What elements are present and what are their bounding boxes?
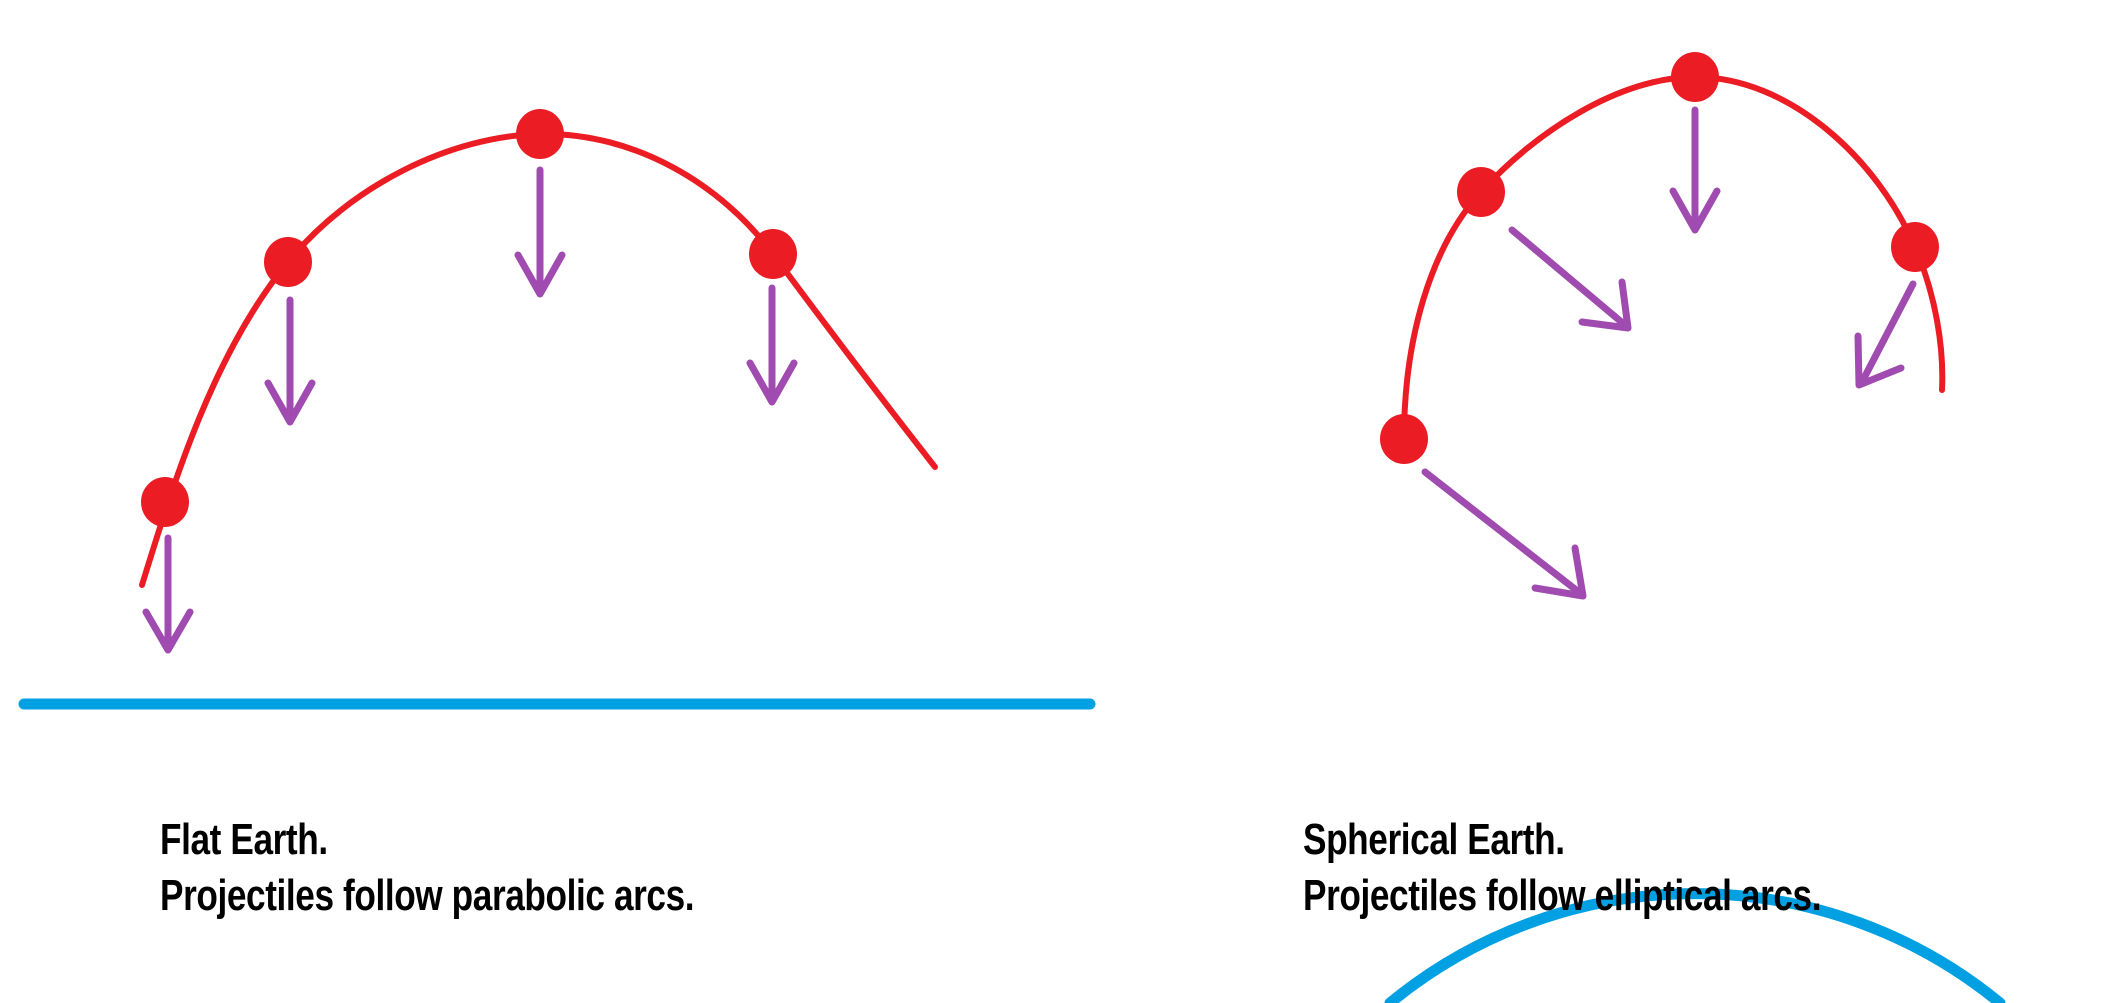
projectile-dot <box>264 237 312 287</box>
gravity-arrow-3 <box>518 170 562 294</box>
projectile-dot <box>516 109 564 159</box>
flat-earth-caption-line1: Flat Earth. <box>160 812 694 868</box>
spherical-earth-caption-line1: Spherical Earth. <box>1303 812 1821 868</box>
projectile-dot <box>1457 167 1505 217</box>
projectile-dot <box>1891 222 1939 272</box>
flat-earth-gravity-arrows <box>146 170 794 650</box>
projectile-dot <box>1671 52 1719 102</box>
diagram-canvas: Flat Earth. Projectiles follow parabolic… <box>0 0 2118 1003</box>
spherical-earth-projectile-dots <box>1380 52 1939 464</box>
gravity-arrow-3 <box>1673 110 1717 230</box>
projectile-dot <box>749 229 797 279</box>
gravity-arrow-1 <box>1425 472 1583 596</box>
flat-earth-projectile-dots <box>141 109 797 527</box>
gravity-arrow-2 <box>268 300 312 422</box>
flat-earth-caption: Flat Earth. Projectiles follow parabolic… <box>160 812 694 924</box>
spherical-earth-caption: Spherical Earth. Projectiles follow elli… <box>1303 812 1821 924</box>
flat-earth-caption-line2: Projectiles follow parabolic arcs. <box>160 868 694 924</box>
flat-earth-panel <box>24 109 1090 704</box>
gravity-arrow-2 <box>1512 230 1628 328</box>
projectile-dot <box>141 477 189 527</box>
spherical-earth-caption-line2: Projectiles follow elliptical arcs. <box>1303 868 1821 924</box>
gravity-arrow-4 <box>1858 284 1913 385</box>
projectile-dot <box>1380 414 1428 464</box>
gravity-arrow-4 <box>750 288 794 402</box>
